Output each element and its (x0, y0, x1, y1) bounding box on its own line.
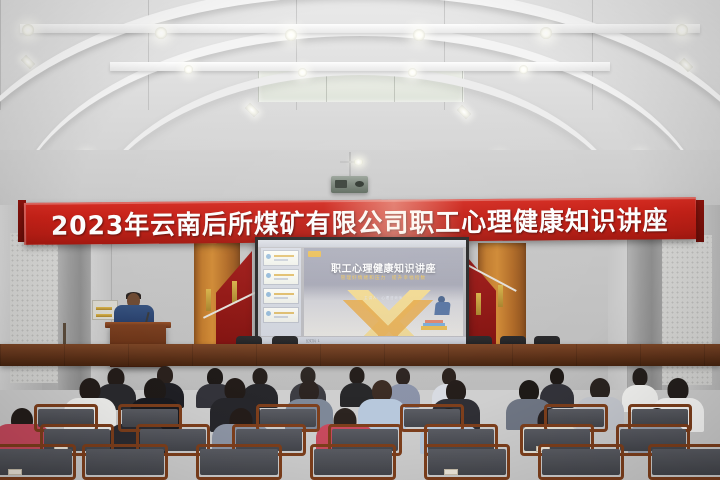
audience-area (0, 352, 720, 480)
slide-title-text: 职工心理健康知识讲座 (304, 260, 463, 275)
projector-mount-pole (349, 152, 351, 178)
downlight-icon (676, 24, 688, 36)
door-handle-right (476, 293, 481, 315)
ppt-current-slide: 职工心理健康知识讲座 管理好情绪和压力 提升幸福指数 主讲人：心理咨询师 (304, 248, 463, 336)
attendee-head (550, 368, 564, 385)
chair[interactable] (82, 444, 168, 480)
chair[interactable] (538, 444, 624, 480)
door-handle-right-2 (498, 285, 503, 307)
downlight-icon (519, 65, 528, 74)
slide-thumbnail (263, 250, 299, 266)
door-handle-left (206, 289, 211, 311)
slide-logo-badge (308, 251, 321, 257)
seat-number-card (444, 469, 458, 475)
chair-frame (648, 444, 720, 480)
ceiling-light-rail-upper (20, 24, 700, 33)
banner-tie-right (696, 200, 704, 242)
wall-plaque-1 (96, 307, 112, 310)
thumb-line (274, 274, 294, 276)
chair[interactable] (0, 444, 76, 480)
downlight-icon (155, 27, 167, 39)
downlight-icon (540, 27, 552, 39)
chair[interactable] (424, 444, 510, 480)
thumb-line (274, 278, 288, 280)
ppt-toolbar (258, 240, 466, 247)
seat-number-card (8, 469, 22, 475)
figure-body (434, 302, 450, 315)
downlight-icon (408, 68, 417, 77)
figure-book-stack (421, 326, 447, 330)
downlight-icon (298, 68, 307, 77)
projection-screen-frame: 职工心理健康知识讲座 管理好情绪和压力 提升幸福指数 主讲人：心理咨询师 幻灯片… (255, 237, 469, 349)
chair-frame (310, 444, 396, 480)
slide-reading-person-illustration (421, 296, 451, 330)
ceiling-projector-icon (331, 176, 368, 193)
chair-frame (82, 444, 168, 480)
slide-subtitle-text: 管理好情绪和压力 提升幸福指数 (304, 275, 463, 281)
downlight-icon (22, 24, 34, 36)
thumb-line (274, 297, 288, 299)
chair-frame (424, 444, 510, 480)
lecture-hall-photo: 2023年云南后所煤矿有限公司职工心理健康知识讲座 职工心理健康知识讲座 管理好… (0, 0, 720, 480)
attendee-head (633, 368, 648, 386)
thumb-bullet-icon (266, 273, 271, 278)
thumb-line (274, 316, 288, 318)
thumb-bullet-icon (266, 254, 271, 259)
banner-title-text: 2023年云南后所煤矿有限公司职工心理健康知识讲座 (51, 200, 669, 242)
thumb-line (274, 293, 294, 295)
slide-thumbnail (263, 269, 299, 285)
chair-frame (196, 444, 282, 480)
chair[interactable] (310, 444, 396, 480)
downlight-icon (413, 29, 425, 41)
thumb-line (274, 255, 294, 257)
wall-plaque-2 (96, 314, 112, 317)
thumb-bullet-icon (266, 292, 271, 297)
downlight-icon (184, 65, 193, 74)
projector-lamp-icon (354, 159, 363, 165)
thumb-line (274, 312, 294, 314)
chair[interactable] (648, 444, 720, 480)
thumb-line (274, 259, 288, 261)
chair[interactable] (196, 444, 282, 480)
downlight-icon (285, 29, 297, 41)
ppt-slide-thumbnail-panel (261, 248, 301, 336)
thumb-bullet-icon (266, 311, 271, 316)
slide-thumbnail (263, 307, 299, 323)
chair-frame (538, 444, 624, 480)
slide-thumbnail (263, 288, 299, 304)
projection-screen-surface: 职工心理健康知识讲座 管理好情绪和压力 提升幸福指数 主讲人：心理咨询师 幻灯片… (258, 240, 466, 346)
